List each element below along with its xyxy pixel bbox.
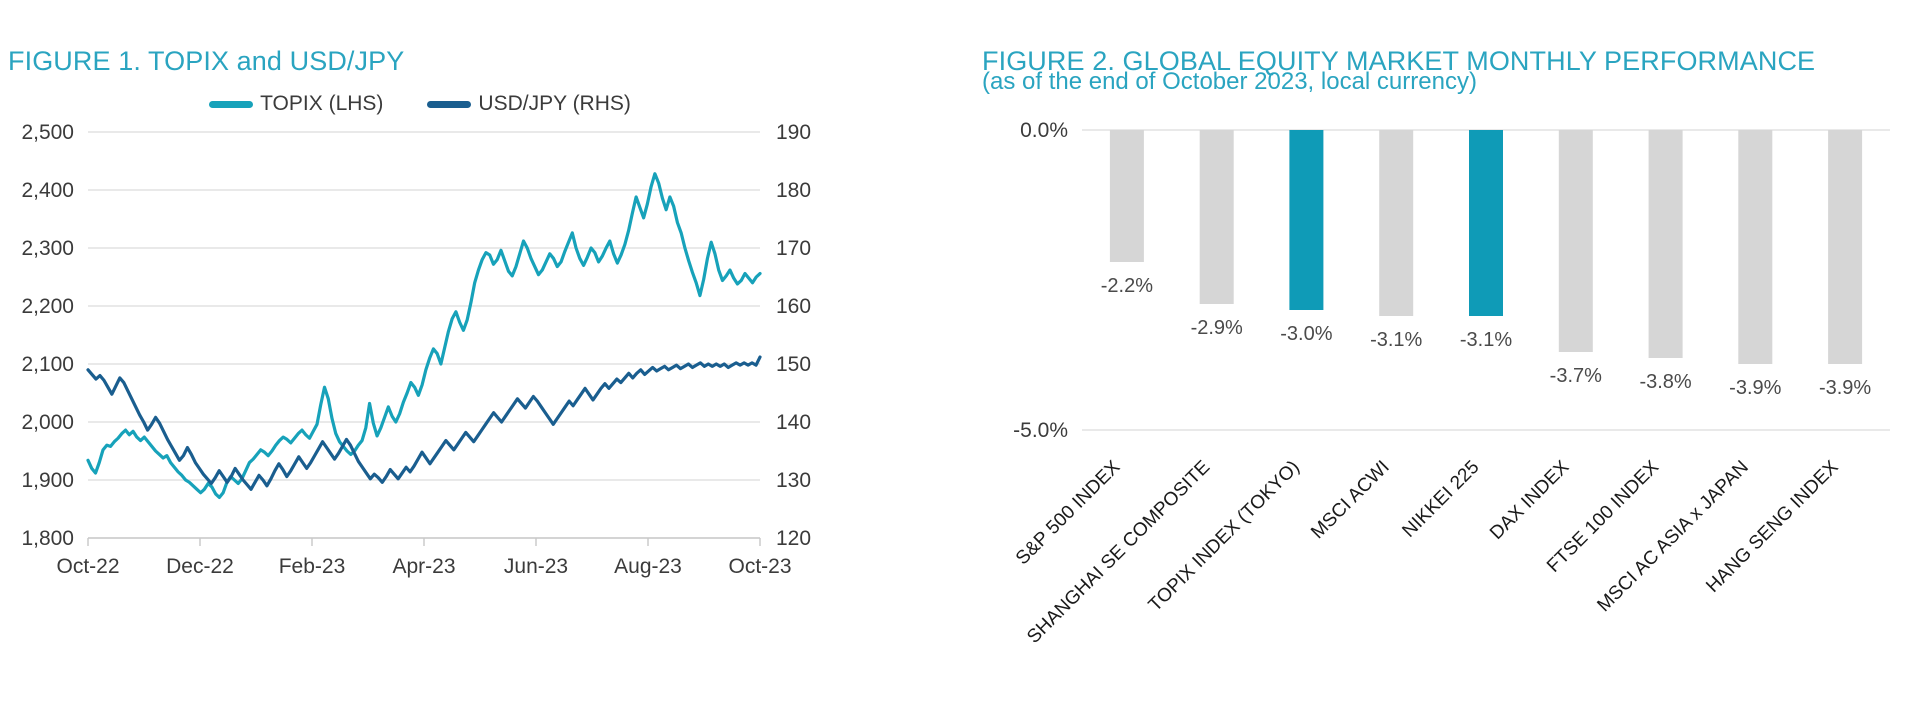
figure-2-y-tick: 0.0%	[1020, 119, 1068, 142]
figure-1-right-tick: 130	[776, 469, 811, 492]
figure-1-left-axis-labels: 1,8001,9002,0002,1002,2002,3002,4002,500	[21, 121, 74, 550]
figure-2-bar	[1379, 130, 1413, 316]
figure-1-left-tick: 2,200	[21, 295, 74, 318]
figure-1-right-tick: 140	[776, 411, 811, 434]
figure-1-line-chart: 1,8001,9002,0002,1002,2002,3002,4002,500…	[0, 120, 880, 640]
figure-2-value-label: -3.9%	[1819, 377, 1871, 399]
figure-2-value-label: -3.9%	[1729, 377, 1781, 399]
figure-2-y-axis-labels: 0.0%-5.0%	[1013, 119, 1068, 442]
figure-2-value-label: -3.1%	[1460, 329, 1512, 351]
figure-2-bar	[1828, 130, 1862, 364]
figures-page: FIGURE 1. TOPIX and USD/JPY TOPIX (LHS) …	[0, 0, 1920, 702]
figure-1-right-axis-labels: 120130140150160170180190	[776, 121, 811, 550]
figure-2-category-labels: S&P 500 INDEXSHANGHAI SE COMPOSITETOPIX …	[1012, 456, 1843, 647]
figure-1-x-tick: Aug-23	[614, 555, 682, 578]
figure-1-left-tick: 1,800	[21, 527, 74, 550]
legend-item-usdjpy: USD/JPY (RHS)	[427, 92, 630, 116]
figure-1-right-tick: 170	[776, 237, 811, 260]
figure-1-legend: TOPIX (LHS) USD/JPY (RHS)	[0, 92, 840, 116]
figure-2-bar	[1469, 130, 1503, 316]
figure-1-right-tick: 180	[776, 179, 811, 202]
figure-2-category-label: DAX INDEX	[1486, 456, 1573, 543]
figure-2-category-label: SHANGHAI SE COMPOSITE	[1023, 457, 1214, 648]
figure-2-panel: FIGURE 2. GLOBAL EQUITY MARKET MONTHLY P…	[960, 0, 1920, 702]
figure-2-bar	[1110, 130, 1144, 262]
figure-1-gridlines	[88, 132, 760, 538]
figure-2-bar	[1738, 130, 1772, 364]
figure-2-bar	[1559, 130, 1593, 352]
figure-1-x-tick: Feb-23	[279, 555, 346, 578]
figure-1-series-group	[88, 174, 760, 498]
figure-1-x-tick: Dec-22	[166, 555, 234, 578]
figure-2-category-label: TOPIX INDEX (TOKYO)	[1145, 457, 1304, 616]
figure-1-title: FIGURE 1. TOPIX and USD/JPY	[8, 46, 404, 77]
figure-2-category-label: NIKKEI 225	[1398, 457, 1483, 542]
figure-1-left-tick: 2,100	[21, 353, 74, 376]
figure-2-value-label: -2.2%	[1101, 275, 1153, 297]
figure-1-left-tick: 2,000	[21, 411, 74, 434]
figure-1-x-tick: Apr-23	[392, 555, 455, 578]
figure-1-left-tick: 2,300	[21, 237, 74, 260]
figure-1-right-tick: 120	[776, 527, 811, 550]
legend-label-topix: TOPIX (LHS)	[260, 92, 383, 116]
figure-1-x-tick: Oct-22	[56, 555, 119, 578]
figure-2-value-label: -3.7%	[1550, 365, 1602, 387]
figure-2-subtitle: (as of the end of October 2023, local cu…	[982, 68, 1477, 96]
figure-2-value-label: -3.1%	[1370, 329, 1422, 351]
figure-1-right-tick: 150	[776, 353, 811, 376]
figure-2-value-label: -3.0%	[1280, 323, 1332, 345]
figure-1-x-tick: Oct-23	[728, 555, 791, 578]
figure-1-right-tick: 190	[776, 121, 811, 144]
legend-swatch-usdjpy-icon	[427, 101, 471, 108]
figure-1-panel: FIGURE 1. TOPIX and USD/JPY TOPIX (LHS) …	[0, 0, 960, 702]
figure-1-left-tick: 2,400	[21, 179, 74, 202]
legend-swatch-topix-icon	[209, 101, 253, 108]
figure-2-bar	[1649, 130, 1683, 358]
figure-2-bar	[1200, 130, 1234, 304]
figure-1-right-tick: 160	[776, 295, 811, 318]
figure-2-value-label: -2.9%	[1191, 317, 1243, 339]
figure-2-y-tick: -5.0%	[1013, 419, 1068, 442]
legend-label-usdjpy: USD/JPY (RHS)	[478, 92, 630, 116]
figure-1-left-tick: 1,900	[21, 469, 74, 492]
figure-1-x-tick: Jun-23	[504, 555, 568, 578]
figure-1-left-tick: 2,500	[21, 121, 74, 144]
figure-2-bar-chart: 0.0%-5.0% -2.2%-2.9%-3.0%-3.1%-3.1%-3.7%…	[960, 112, 1900, 702]
figure-2-bar	[1289, 130, 1323, 310]
legend-item-topix: TOPIX (LHS)	[209, 92, 383, 116]
figure-2-category-label: MSCI ACWI	[1307, 457, 1394, 544]
figure-2-category-label: MSCI AC ASIA x JAPAN	[1593, 457, 1752, 616]
figure-2-value-label: -3.8%	[1639, 371, 1691, 393]
figure-1-x-axis: Oct-22Dec-22Feb-23Apr-23Jun-23Aug-23Oct-…	[56, 538, 791, 578]
